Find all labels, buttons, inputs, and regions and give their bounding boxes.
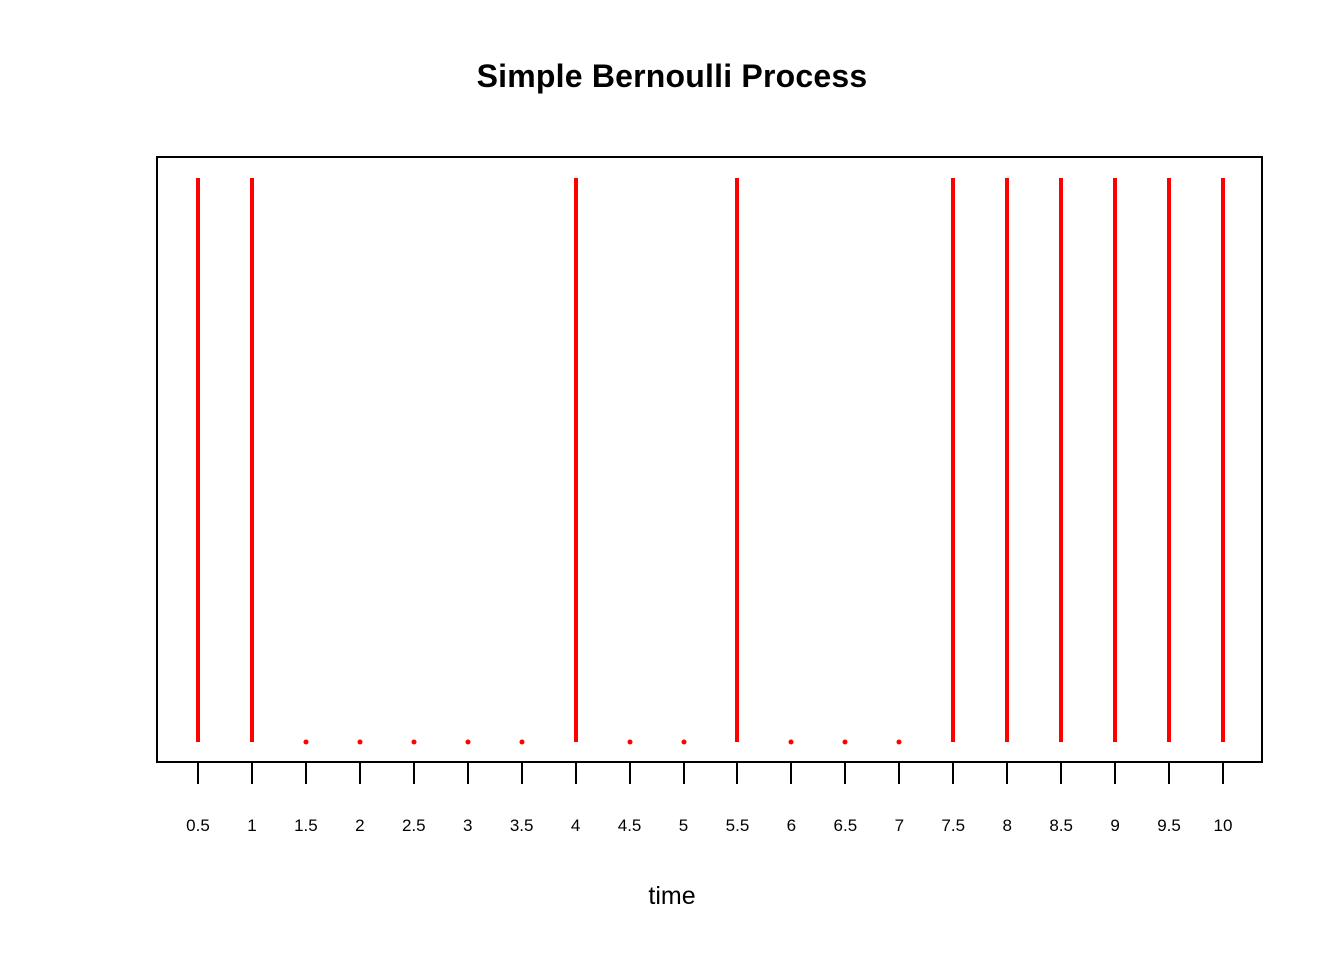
x-axis-tick-label: 10 [1214, 816, 1233, 836]
x-axis-tick [683, 763, 685, 784]
x-axis-tick [305, 763, 307, 784]
x-axis-tick-label: 3.5 [510, 816, 534, 836]
x-axis-tick-label: 2.5 [402, 816, 426, 836]
x-axis-tick [898, 763, 900, 784]
plot-area-border [156, 156, 1263, 763]
x-axis-tick-label: 8.5 [1049, 816, 1073, 836]
x-axis-tick [629, 763, 631, 784]
x-axis-tick [1114, 763, 1116, 784]
x-axis-tick-label: 3 [463, 816, 472, 836]
x-axis-tick [197, 763, 199, 784]
x-axis-tick [952, 763, 954, 784]
x-axis-tick [790, 763, 792, 784]
x-axis-tick-label: 2 [355, 816, 364, 836]
x-axis-tick [359, 763, 361, 784]
x-axis-tick-label: 1.5 [294, 816, 318, 836]
x-axis-tick-label: 6.5 [834, 816, 858, 836]
x-axis-label: time [0, 880, 1344, 912]
x-axis-tick [467, 763, 469, 784]
x-axis-tick [1006, 763, 1008, 784]
x-axis-tick-label: 5.5 [726, 816, 750, 836]
x-axis-tick [251, 763, 253, 784]
x-axis-tick-label: 5 [679, 816, 688, 836]
x-axis-tick-label: 7 [895, 816, 904, 836]
x-axis-tick-label: 1 [247, 816, 256, 836]
x-axis-tick-label: 6 [787, 816, 796, 836]
x-axis-tick-label: 4 [571, 816, 580, 836]
x-axis-tick [844, 763, 846, 784]
x-axis-tick-label: 9 [1110, 816, 1119, 836]
chart-figure: Simple Bernoulli Process 0.511.522.533.5… [0, 0, 1344, 960]
x-axis-tick-label: 0.5 [186, 816, 210, 836]
x-axis-tick-label: 9.5 [1157, 816, 1181, 836]
x-axis-tick [736, 763, 738, 784]
x-axis-tick-label: 4.5 [618, 816, 642, 836]
x-axis-tick-label: 7.5 [941, 816, 965, 836]
x-axis-tick [1222, 763, 1224, 784]
x-axis-tick [575, 763, 577, 784]
x-axis-tick [1060, 763, 1062, 784]
x-axis-tick [1168, 763, 1170, 784]
chart-title: Simple Bernoulli Process [0, 56, 1344, 96]
x-axis-tick-label: 8 [1002, 816, 1011, 836]
x-axis-tick [521, 763, 523, 784]
x-axis-tick [413, 763, 415, 784]
